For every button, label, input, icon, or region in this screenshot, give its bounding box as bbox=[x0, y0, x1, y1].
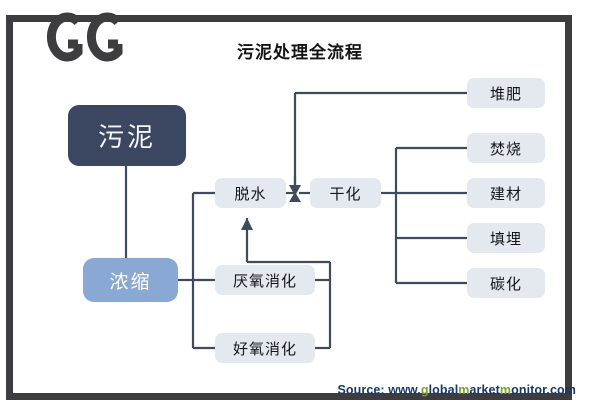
source-prefix: Source: www. bbox=[337, 383, 420, 397]
node-compost-label: 堆肥 bbox=[490, 83, 522, 104]
source-onitor: onitor.com bbox=[511, 383, 576, 397]
source-letter-m2: m bbox=[500, 383, 511, 397]
node-dewater[interactable]: 脱水 bbox=[215, 178, 286, 208]
node-thicken-label: 浓缩 bbox=[109, 267, 151, 294]
node-aerobic-digestion[interactable]: 好氧消化 bbox=[215, 333, 315, 363]
gg-monogram-logo bbox=[42, 2, 138, 64]
node-drying[interactable]: 干化 bbox=[310, 178, 381, 208]
node-sludge-label: 污泥 bbox=[98, 117, 156, 154]
source-letter-g: g bbox=[421, 383, 429, 397]
node-incineration-label: 焚烧 bbox=[490, 138, 522, 159]
node-incineration[interactable]: 焚烧 bbox=[467, 133, 545, 163]
source-attribution: Source: www.globalmarketmonitor.com bbox=[0, 383, 576, 397]
source-letter-m1: m bbox=[458, 383, 469, 397]
node-thicken[interactable]: 浓缩 bbox=[83, 258, 178, 302]
node-anaerobic-label: 厌氧消化 bbox=[233, 270, 297, 291]
node-sludge[interactable]: 污泥 bbox=[68, 105, 186, 166]
node-compost[interactable]: 堆肥 bbox=[467, 78, 545, 108]
node-aerobic-label: 好氧消化 bbox=[233, 338, 297, 359]
diagram-canvas: 污泥处理全流程 bbox=[0, 0, 600, 415]
node-drying-label: 干化 bbox=[329, 183, 361, 204]
node-building-material[interactable]: 建材 bbox=[467, 178, 545, 208]
node-anaerobic-digestion[interactable]: 厌氧消化 bbox=[215, 265, 315, 295]
source-arket: arket bbox=[469, 383, 499, 397]
node-dewater-label: 脱水 bbox=[234, 183, 266, 204]
node-building-material-label: 建材 bbox=[490, 183, 522, 204]
node-carbonization[interactable]: 碳化 bbox=[467, 268, 545, 298]
source-lobal: lobal bbox=[429, 383, 459, 397]
node-carbonization-label: 碳化 bbox=[490, 273, 522, 294]
node-landfill[interactable]: 填埋 bbox=[467, 223, 545, 253]
arrowhead-junction bbox=[289, 185, 301, 196]
node-landfill-label: 填埋 bbox=[490, 228, 522, 249]
arrowhead-dewater bbox=[241, 218, 253, 230]
